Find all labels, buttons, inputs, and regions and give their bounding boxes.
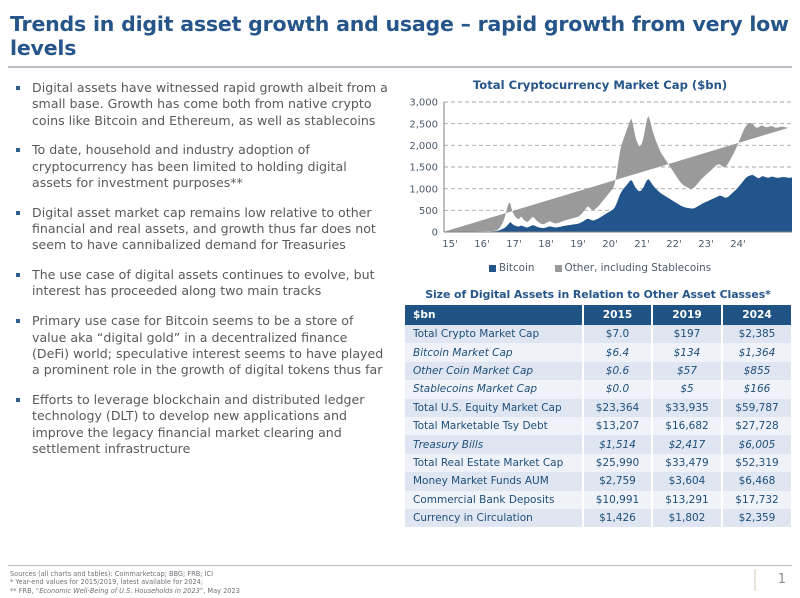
table-cell: $2,417: [652, 435, 722, 453]
source-notes: Sources (all charts and tables): Coinmar…: [10, 570, 610, 595]
bullet-text: The use case of digital assets continues…: [32, 267, 375, 298]
table-row-label: Total Marketable Tsy Debt: [405, 417, 583, 435]
table-row: Other Coin Market Cap$0.6$57$855: [405, 362, 791, 380]
table-cell: $33,935: [652, 399, 722, 417]
table-row-label: Total Real Estate Market Cap: [405, 454, 583, 472]
chart-y-tick-label: 3,000: [409, 98, 438, 109]
chart-x-tick-label: 22': [666, 239, 681, 250]
legend-swatch-icon: [555, 265, 562, 272]
page-number: 1: [778, 572, 786, 587]
table-cell: $197: [652, 325, 722, 343]
table-cell: $25,990: [583, 454, 652, 472]
note3-title: Economic Well-Being of U.S. Households i…: [39, 587, 200, 595]
table-cell: $59,787: [722, 399, 791, 417]
bullet-item: To date, household and industry adoption…: [10, 142, 388, 191]
table-cell: $0.0: [583, 380, 652, 398]
table-cell: $134: [652, 343, 722, 361]
table-cell: $6.4: [583, 343, 652, 361]
chart-legend-item[interactable]: Other, including Stablecoins: [555, 262, 712, 274]
table-cell: $10,991: [583, 491, 652, 509]
table-row-label: Total U.S. Equity Market Cap: [405, 399, 583, 417]
table-row: Money Market Funds AUM$2,759$3,604$6,468: [405, 472, 791, 490]
bullet-square-icon: [16, 319, 20, 323]
table-row-label: Currency in Circulation: [405, 509, 583, 527]
legend-label: Bitcoin: [499, 262, 535, 274]
source-note-line-2: * Year-end values for 2015/2019, latest …: [10, 578, 610, 586]
table-row-label: Bitcoin Market Cap: [405, 343, 583, 361]
table-cell: $7.0: [583, 325, 652, 343]
footer-divider: [8, 565, 792, 566]
bullet-text: Efforts to leverage blockchain and distr…: [32, 392, 364, 456]
table-cell: $1,802: [652, 509, 722, 527]
chart-x-tick-label: 21': [634, 239, 649, 250]
title-divider: [8, 66, 792, 68]
table-cell: $1,364: [722, 343, 791, 361]
chart-y-tick-label: 0: [432, 228, 438, 239]
table-row: Currency in Circulation$1,426$1,802$2,35…: [405, 509, 791, 527]
table-row: Total Real Estate Market Cap$25,990$33,4…: [405, 454, 791, 472]
chart-y-tick-label: 2,500: [409, 119, 438, 130]
table-cell: $3,604: [652, 472, 722, 490]
page-title: Trends in digit asset growth and usage –…: [10, 12, 790, 61]
chart-y-tick-label: 1,500: [409, 163, 438, 174]
page-number-divider: [754, 569, 756, 591]
bullet-square-icon: [16, 148, 20, 152]
chart-x-tick-label: 18': [538, 239, 553, 250]
table-column-header: 2019: [652, 305, 722, 325]
table-row: Bitcoin Market Cap$6.4$134$1,364: [405, 343, 791, 361]
table-row-label: Stablecoins Market Cap: [405, 380, 583, 398]
bullet-text: To date, household and industry adoption…: [32, 142, 347, 190]
table-cell: $13,207: [583, 417, 652, 435]
table-row: Total Crypto Market Cap$7.0$197$2,385: [405, 325, 791, 343]
table-cell: $23,364: [583, 399, 652, 417]
bullet-text: Digital asset market cap remains low rel…: [32, 205, 376, 253]
asset-classes-table-block: Size of Digital Assets in Relation to Ot…: [405, 288, 791, 527]
table-row-label: Commercial Bank Deposits: [405, 491, 583, 509]
table-cell: $17,732: [722, 491, 791, 509]
table-row: Treasury Bills$1,514$2,417$6,005: [405, 435, 791, 453]
table-cell: $0.6: [583, 362, 652, 380]
table-cell: $1,514: [583, 435, 652, 453]
table-cell: $2,385: [722, 325, 791, 343]
chart-x-tick-label: 20': [602, 239, 617, 250]
bullet-square-icon: [16, 273, 20, 277]
bullet-item: Digital assets have witnessed rapid grow…: [10, 80, 388, 129]
table-row-label: Treasury Bills: [405, 435, 583, 453]
table-cell: $5: [652, 380, 722, 398]
table-row-label: Other Coin Market Cap: [405, 362, 583, 380]
table-cell: $1,426: [583, 509, 652, 527]
chart-x-tick-label: 24': [730, 239, 745, 250]
table-title: Size of Digital Assets in Relation to Ot…: [405, 288, 791, 301]
table-body: Total Crypto Market Cap$7.0$197$2,385Bit…: [405, 325, 791, 527]
table-column-header: $bn: [405, 305, 583, 325]
cryptocurrency-market-cap-chart: Total Cryptocurrency Market Cap ($bn) 05…: [404, 78, 796, 278]
legend-label: Other, including Stablecoins: [565, 262, 712, 274]
table-cell: $2,759: [583, 472, 652, 490]
legend-swatch-icon: [489, 265, 496, 272]
table-header-row: $bn201520192024: [405, 305, 791, 325]
table-row: Stablecoins Market Cap$0.0$5$166: [405, 380, 791, 398]
bullet-item: Primary use case for Bitcoin seems to be…: [10, 313, 388, 378]
table-cell: $16,682: [652, 417, 722, 435]
table-cell: $2,359: [722, 509, 791, 527]
source-note-line-3: ** FRB, “Economic Well-Being of U.S. Hou…: [10, 587, 610, 595]
table-cell: $33,479: [652, 454, 722, 472]
table-cell: $57: [652, 362, 722, 380]
bullet-square-icon: [16, 398, 20, 402]
table-row: Total U.S. Equity Market Cap$23,364$33,9…: [405, 399, 791, 417]
chart-x-tick-label: 23': [698, 239, 713, 250]
bullet-square-icon: [16, 211, 20, 215]
table-cell: $13,291: [652, 491, 722, 509]
table-row: Commercial Bank Deposits$10,991$13,291$1…: [405, 491, 791, 509]
table-cell: $52,319: [722, 454, 791, 472]
chart-x-tick-label: 15': [442, 239, 457, 250]
bullet-item: Digital asset market cap remains low rel…: [10, 205, 388, 254]
table-cell: $855: [722, 362, 791, 380]
table-column-header: 2024: [722, 305, 791, 325]
table-row-label: Money Market Funds AUM: [405, 472, 583, 490]
table-column-header: 2015: [583, 305, 652, 325]
table-row: Total Marketable Tsy Debt$13,207$16,682$…: [405, 417, 791, 435]
bullet-square-icon: [16, 86, 20, 90]
table-cell: $166: [722, 380, 791, 398]
asset-classes-table: $bn201520192024 Total Crypto Market Cap$…: [405, 305, 791, 527]
chart-title: Total Cryptocurrency Market Cap ($bn): [404, 78, 796, 92]
chart-x-tick-label: 16': [474, 239, 489, 250]
chart-legend: BitcoinOther, including Stablecoins: [404, 262, 796, 274]
table-cell: $6,468: [722, 472, 791, 490]
bullet-item: Efforts to leverage blockchain and distr…: [10, 392, 388, 457]
chart-legend-item[interactable]: Bitcoin: [489, 262, 535, 274]
chart-x-tick-label: 17': [506, 239, 521, 250]
note3-pre: ** FRB, “: [10, 587, 39, 595]
bullet-text: Primary use case for Bitcoin seems to be…: [32, 313, 383, 377]
bullet-text: Digital assets have witnessed rapid grow…: [32, 80, 388, 128]
bullet-list: Digital assets have witnessed rapid grow…: [10, 80, 388, 471]
bullet-item: The use case of digital assets continues…: [10, 267, 388, 300]
chart-x-tick-label: 19': [570, 239, 585, 250]
chart-y-tick-label: 2,000: [409, 141, 438, 152]
table-row-label: Total Crypto Market Cap: [405, 325, 583, 343]
note3-post: ”, May 2023: [200, 587, 240, 595]
chart-y-tick-label: 500: [419, 206, 438, 217]
chart-svg: 05001,0001,5002,0002,5003,00015'16'17'18…: [404, 96, 796, 258]
table-cell: $6,005: [722, 435, 791, 453]
source-note-line-1: Sources (all charts and tables): Coinmar…: [10, 570, 610, 578]
chart-y-tick-label: 1,000: [409, 184, 438, 195]
chart-plot-area: 05001,0001,5002,0002,5003,00015'16'17'18…: [404, 96, 796, 258]
table-cell: $27,728: [722, 417, 791, 435]
